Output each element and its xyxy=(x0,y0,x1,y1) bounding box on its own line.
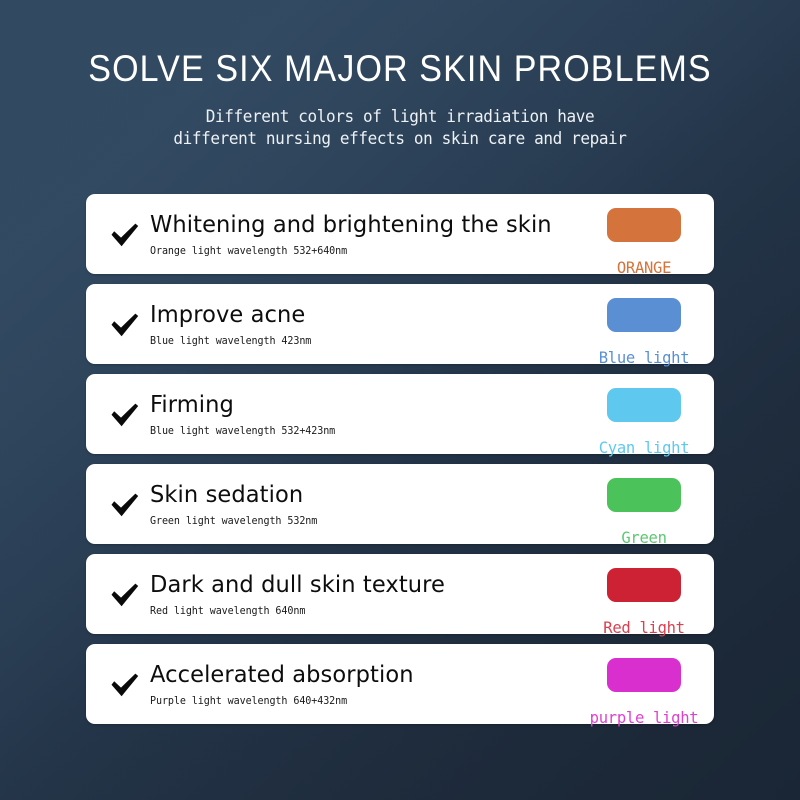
color-swatch-area: Red light xyxy=(574,554,714,634)
feature-card[interactable]: Skin sedation Green light wavelength 532… xyxy=(86,464,714,544)
feature-wavelength: Blue light wavelength 532+423nm xyxy=(150,425,557,437)
feature-wavelength: Purple light wavelength 640+432nm xyxy=(150,695,557,707)
page-subtitle: Different colors of light irradiation ha… xyxy=(12,106,788,151)
feature-heading: Accelerated absorption xyxy=(150,663,566,689)
page-subtitle-line-1: Different colors of light irradiation ha… xyxy=(12,106,788,128)
color-swatch-area: Blue light xyxy=(574,284,714,364)
feature-wavelength: Green light wavelength 532nm xyxy=(150,515,557,527)
color-swatch-area: purple light xyxy=(574,644,714,724)
feature-heading: Dark and dull skin texture xyxy=(150,573,566,599)
color-swatch xyxy=(607,568,681,602)
feature-text: Whitening and brightening the skin Orang… xyxy=(148,213,574,257)
feature-wavelength: Blue light wavelength 423nm xyxy=(150,335,557,347)
feature-heading: Firming xyxy=(150,393,566,419)
check-icon xyxy=(102,492,148,518)
check-icon xyxy=(102,312,148,338)
color-swatch-label: Red light xyxy=(603,620,684,636)
color-swatch xyxy=(607,388,681,422)
color-swatch-label: ORANGE xyxy=(617,260,671,276)
feature-card[interactable]: Dark and dull skin texture Red light wav… xyxy=(86,554,714,634)
feature-card[interactable]: Accelerated absorption Purple light wave… xyxy=(86,644,714,724)
color-swatch-label: purple light xyxy=(590,710,699,726)
color-swatch xyxy=(607,298,681,332)
feature-card[interactable]: Improve acne Blue light wavelength 423nm… xyxy=(86,284,714,364)
feature-heading: Improve acne xyxy=(150,303,566,329)
color-swatch xyxy=(607,478,681,512)
color-swatch-area: Green xyxy=(574,464,714,544)
feature-text: Skin sedation Green light wavelength 532… xyxy=(148,483,574,527)
color-swatch xyxy=(607,208,681,242)
check-icon xyxy=(102,402,148,428)
color-swatch-label: Cyan light xyxy=(599,440,690,456)
feature-card[interactable]: Whitening and brightening the skin Orang… xyxy=(86,194,714,274)
check-icon xyxy=(102,582,148,608)
feature-card[interactable]: Firming Blue light wavelength 532+423nm … xyxy=(86,374,714,454)
feature-card-list: Whitening and brightening the skin Orang… xyxy=(0,194,800,724)
color-swatch-area: Cyan light xyxy=(574,374,714,454)
feature-heading: Whitening and brightening the skin xyxy=(150,213,566,239)
poster-root: SOLVE SIX MAJOR SKIN PROBLEMS Different … xyxy=(0,0,800,800)
feature-wavelength: Red light wavelength 640nm xyxy=(150,605,557,617)
feature-text: Dark and dull skin texture Red light wav… xyxy=(148,573,574,617)
color-swatch-label: Blue light xyxy=(599,350,690,366)
color-swatch-label: Green xyxy=(621,530,666,546)
header: SOLVE SIX MAJOR SKIN PROBLEMS Different … xyxy=(0,0,800,150)
check-icon xyxy=(102,672,148,698)
feature-text: Firming Blue light wavelength 532+423nm xyxy=(148,393,574,437)
color-swatch-area: ORANGE xyxy=(574,194,714,274)
feature-text: Improve acne Blue light wavelength 423nm xyxy=(148,303,574,347)
feature-heading: Skin sedation xyxy=(150,483,566,509)
color-swatch xyxy=(607,658,681,692)
check-icon xyxy=(102,222,148,248)
page-title: SOLVE SIX MAJOR SKIN PROBLEMS xyxy=(32,50,768,89)
feature-text: Accelerated absorption Purple light wave… xyxy=(148,663,574,707)
feature-wavelength: Orange light wavelength 532+640nm xyxy=(150,245,557,257)
page-subtitle-line-2: different nursing effects on skin care a… xyxy=(12,128,788,150)
